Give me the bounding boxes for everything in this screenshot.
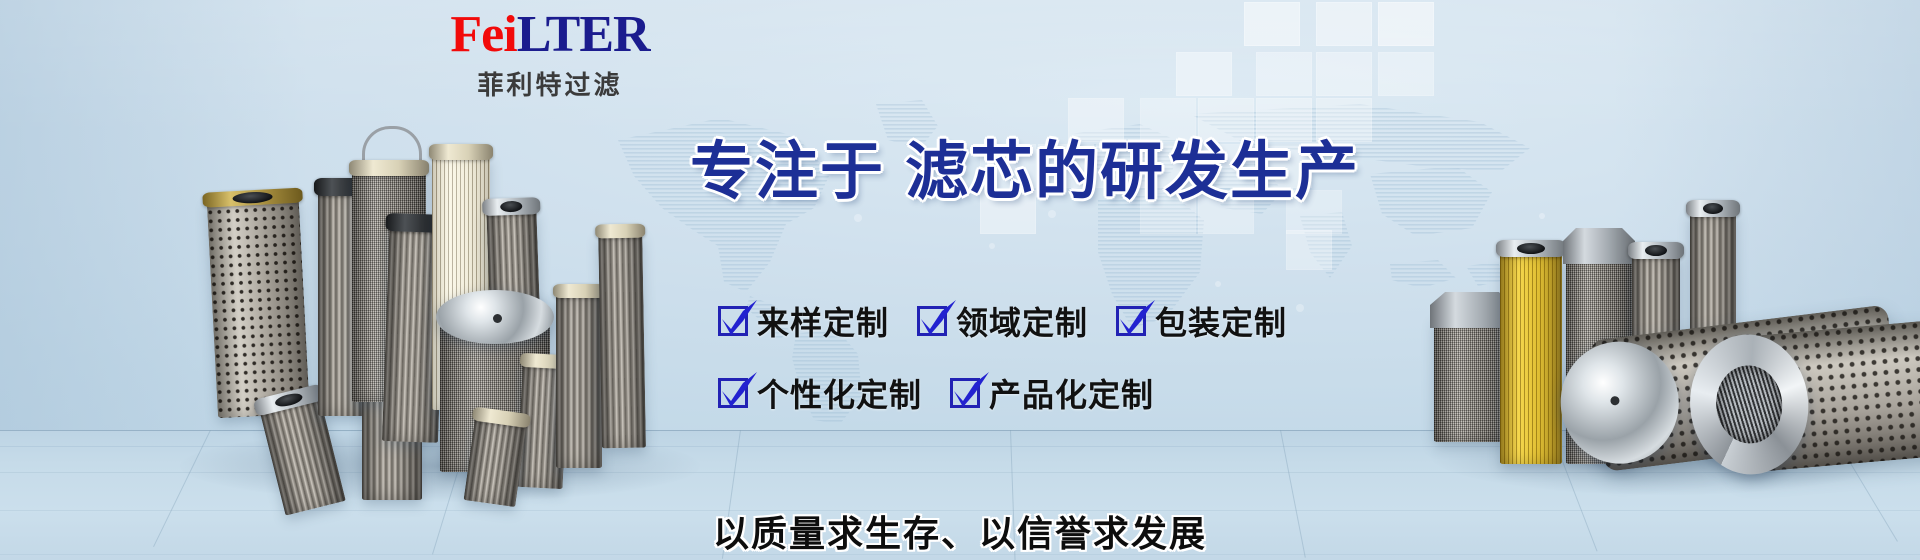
feature-row: 个性化定制 产品化定制 — [718, 370, 1418, 416]
headline-part1: 专注于 — [690, 135, 885, 208]
feature-label: 个性化定制 — [757, 370, 922, 416]
feature-label: 包装定制 — [1155, 298, 1287, 344]
feature-list: 来样定制 领域定制 包装定制 — [718, 298, 1418, 442]
checkbox-checked-icon — [1116, 306, 1146, 336]
feature-item-ge-xing-hua[interactable]: 个性化定制 — [718, 370, 922, 416]
checkbox-checked-icon — [917, 306, 947, 336]
feature-item-bao-zhuang[interactable]: 包装定制 — [1116, 298, 1287, 344]
feature-label: 来样定制 — [757, 298, 889, 344]
feature-item-lai-yang[interactable]: 来样定制 — [718, 298, 889, 344]
feature-row: 来样定制 领域定制 包装定制 — [718, 298, 1418, 344]
feature-item-chan-pin-hua[interactable]: 产品化定制 — [950, 370, 1154, 416]
logo-subtitle: 菲利特过滤 — [390, 65, 710, 102]
headline: 专注于滤芯的研发生产 — [690, 140, 1360, 203]
headline-part2: 滤芯的研发生产 — [905, 135, 1360, 208]
logo-wordmark: FeiLTER — [390, 8, 710, 61]
logo-wordmark-fei: Fei — [450, 6, 516, 63]
logo-wordmark-lter: LTER — [517, 6, 650, 63]
checkbox-checked-icon — [718, 378, 748, 408]
feature-label: 领域定制 — [956, 298, 1088, 344]
feature-item-ling-yu[interactable]: 领域定制 — [917, 298, 1088, 344]
feature-label: 产品化定制 — [989, 370, 1154, 416]
slogan: 以质量求生存、以信誉求发展 — [0, 505, 1920, 557]
checkbox-checked-icon — [950, 378, 980, 408]
company-logo[interactable]: FeiLTER 菲利特过滤 — [390, 8, 710, 102]
promotional-banner: FeiLTER 菲利特过滤 专注于滤芯的研发生产 来样定制 — [0, 0, 1920, 560]
checkbox-checked-icon — [718, 306, 748, 336]
